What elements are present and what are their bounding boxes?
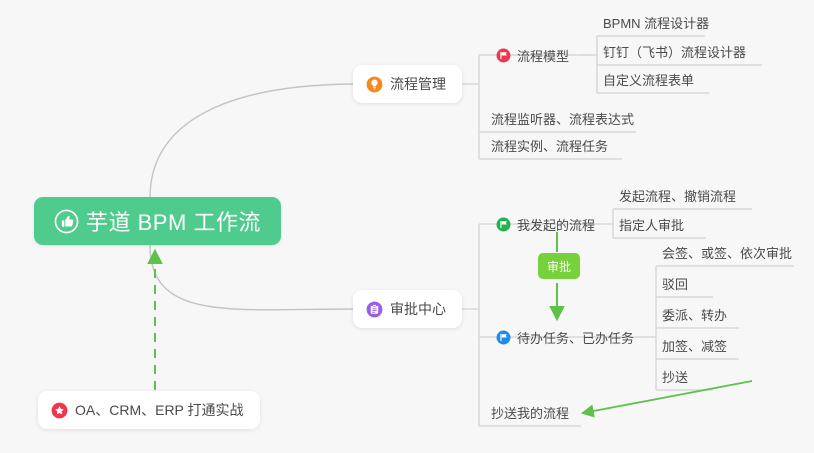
approval-tag-label: 审批 bbox=[547, 258, 571, 275]
root-node[interactable]: 芋道 BPM 工作流 bbox=[34, 197, 281, 245]
node-listener-expression-label: 流程监听器、流程表达式 bbox=[491, 109, 634, 128]
node-dingtalk-feishu-designer[interactable]: 钉钉（飞书）流程设计器 bbox=[597, 37, 754, 65]
branch-process-management[interactable]: 流程管理 bbox=[353, 65, 462, 103]
mindmap-canvas: 芋道 BPM 工作流 流程管理 流程模型 BPMN 流程设计器 钉钉（飞书 bbox=[0, 0, 814, 453]
node-process-model[interactable]: 流程模型 bbox=[492, 41, 577, 69]
lightbulb-icon bbox=[366, 76, 383, 93]
star-icon bbox=[51, 402, 68, 419]
node-start-cancel-process[interactable]: 发起流程、撤销流程 bbox=[613, 181, 744, 209]
node-cc-label: 抄送 bbox=[662, 367, 688, 386]
node-custom-process-form-label: 自定义流程表单 bbox=[603, 70, 694, 89]
node-todo-done-tasks-label: 待办任务、已办任务 bbox=[517, 328, 634, 347]
node-my-initiated-process[interactable]: 我发起的流程 bbox=[492, 210, 603, 238]
node-instance-task[interactable]: 流程实例、流程任务 bbox=[485, 131, 616, 159]
node-assignee-approval-label: 指定人审批 bbox=[619, 215, 684, 234]
node-cc-to-me-process[interactable]: 抄送我的流程 bbox=[485, 398, 577, 426]
node-cc[interactable]: 抄送 bbox=[656, 362, 696, 390]
node-instance-task-label: 流程实例、流程任务 bbox=[491, 136, 608, 155]
integration-note[interactable]: OA、CRM、ERP 打通实战 bbox=[38, 391, 260, 429]
flag-icon bbox=[496, 330, 511, 345]
edge-root-to-approval-center bbox=[150, 245, 353, 310]
integration-note-label: OA、CRM、ERP 打通实战 bbox=[75, 400, 244, 420]
node-delegate-transfer[interactable]: 委派、转办 bbox=[656, 300, 735, 328]
node-listener-expression[interactable]: 流程监听器、流程表达式 bbox=[485, 104, 642, 132]
node-add-remove-sign[interactable]: 加签、减签 bbox=[656, 331, 735, 359]
node-process-model-label: 流程模型 bbox=[517, 46, 569, 65]
flag-icon bbox=[496, 48, 511, 63]
node-cc-to-me-process-label: 抄送我的流程 bbox=[491, 403, 569, 422]
root-node-label: 芋道 BPM 工作流 bbox=[86, 205, 261, 237]
node-dingtalk-feishu-designer-label: 钉钉（飞书）流程设计器 bbox=[603, 42, 746, 61]
branch-process-management-label: 流程管理 bbox=[390, 74, 446, 94]
thumbs-up-icon bbox=[54, 209, 79, 234]
node-my-initiated-process-label: 我发起的流程 bbox=[517, 215, 595, 234]
branch-approval-center[interactable]: 审批中心 bbox=[353, 290, 462, 328]
flag-icon bbox=[496, 217, 511, 232]
node-custom-process-form[interactable]: 自定义流程表单 bbox=[597, 65, 702, 93]
clipboard-icon bbox=[366, 301, 383, 318]
node-reject[interactable]: 驳回 bbox=[656, 269, 696, 297]
node-assignee-approval[interactable]: 指定人审批 bbox=[613, 210, 692, 238]
node-todo-done-tasks[interactable]: 待办任务、已办任务 bbox=[492, 323, 642, 351]
node-delegate-transfer-label: 委派、转办 bbox=[662, 305, 727, 324]
node-bpmn-designer[interactable]: BPMN 流程设计器 bbox=[597, 8, 717, 36]
node-add-remove-sign-label: 加签、减签 bbox=[662, 336, 727, 355]
edge-root-to-process-management bbox=[150, 84, 353, 198]
node-countersign[interactable]: 会签、或签、依次审批 bbox=[656, 238, 800, 266]
node-reject-label: 驳回 bbox=[662, 274, 688, 293]
node-bpmn-designer-label: BPMN 流程设计器 bbox=[603, 13, 709, 32]
branch-approval-center-label: 审批中心 bbox=[390, 299, 446, 319]
node-countersign-label: 会签、或签、依次审批 bbox=[662, 243, 792, 262]
approval-tag[interactable]: 审批 bbox=[538, 253, 580, 279]
node-start-cancel-process-label: 发起流程、撤销流程 bbox=[619, 186, 736, 205]
